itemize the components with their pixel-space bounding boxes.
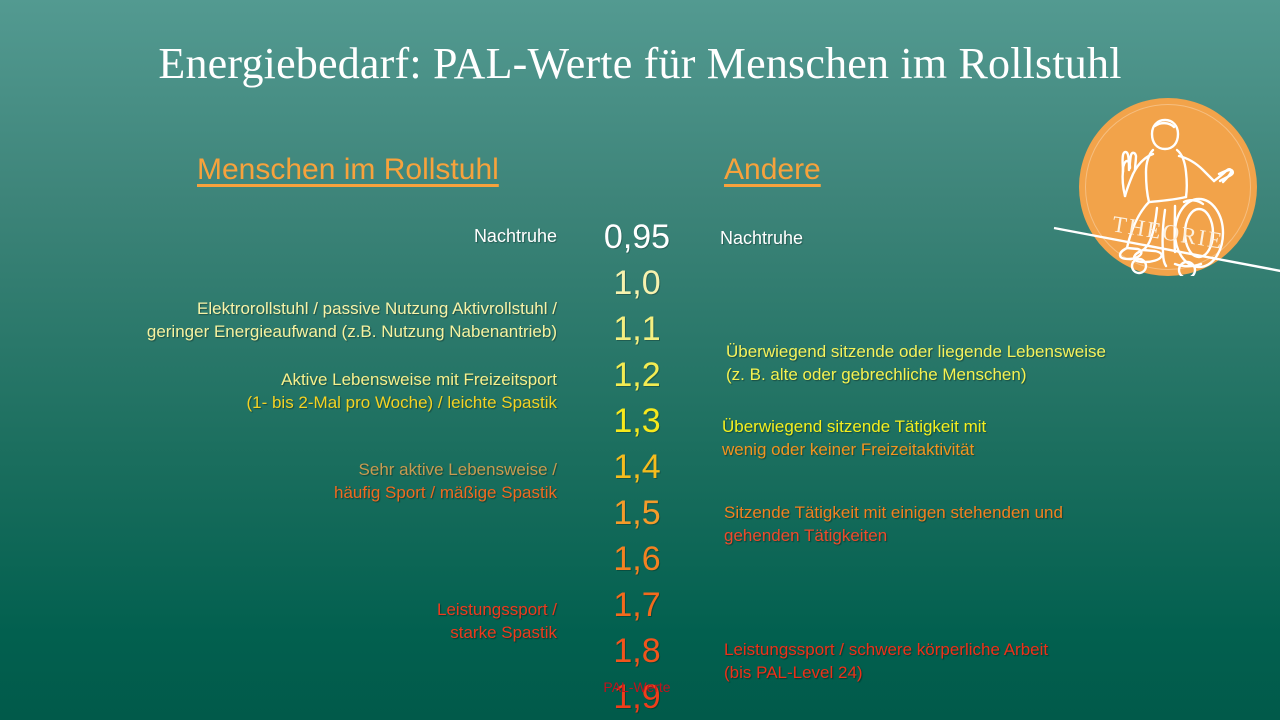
right-entry-nachtruhe: Nachtruhe: [720, 226, 803, 250]
pal-value-1-3: 1,3: [577, 398, 697, 444]
theorie-badge: THEORIE: [1079, 98, 1257, 276]
left-entry-leistungssport: Leistungssport /starke Spastik: [437, 598, 557, 644]
pal-value-1-4: 1,4: [577, 444, 697, 490]
left-entry-line: Sehr aktive Lebensweise /: [334, 458, 557, 481]
right-entry-line: Nachtruhe: [720, 226, 803, 250]
left-entry-sehr-aktive-lebensweise: Sehr aktive Lebensweise /häufig Sport / …: [334, 458, 557, 504]
left-entry-nachtruhe: Nachtruhe: [474, 224, 557, 248]
pal-value-1-1: 1,1: [577, 306, 697, 352]
left-entry-line: Aktive Lebensweise mit Freizeitsport: [246, 368, 557, 391]
right-entry-stehende-gehende: Sitzende Tätigkeit mit einigen stehenden…: [724, 501, 1063, 547]
right-entry-line: (bis PAL-Level 24): [724, 661, 1048, 684]
left-entry-elektrorollstuhl: Elektrorollstuhl / passive Nutzung Aktiv…: [147, 297, 557, 343]
left-entry-line: (1- bis 2-Mal pro Woche) / leichte Spast…: [246, 391, 557, 414]
pal-scale-caption: PAL-Werte: [577, 678, 697, 696]
page-title: Energiebedarf: PAL-Werte für Menschen im…: [0, 38, 1280, 90]
pal-value-1-0: 1,0: [577, 260, 697, 306]
left-entry-line: Leistungssport /: [437, 598, 557, 621]
left-entry-aktive-lebensweise: Aktive Lebensweise mit Freizeitsport(1- …: [246, 368, 557, 414]
pal-value-1-5: 1,5: [577, 490, 697, 536]
right-entry-leistungssport: Leistungssport / schwere körperliche Arb…: [724, 638, 1048, 684]
pal-value-1-6: 1,6: [577, 536, 697, 582]
left-entry-line: Nachtruhe: [474, 224, 557, 248]
column-header-right: Andere: [724, 152, 821, 188]
pal-value-0-95: 0,95: [577, 214, 697, 260]
right-entry-line: Sitzende Tätigkeit mit einigen stehenden…: [724, 501, 1063, 524]
right-entry-sitzende-taetigkeit: Überwiegend sitzende Tätigkeit mitwenig …: [722, 415, 986, 461]
right-entry-sitzende-liegende: Überwiegend sitzende oder liegende Leben…: [726, 340, 1106, 386]
column-header-left: Menschen im Rollstuhl: [197, 152, 499, 188]
right-entry-line: (z. B. alte oder gebrechliche Menschen): [726, 363, 1106, 386]
left-entry-line: Elektrorollstuhl / passive Nutzung Aktiv…: [147, 297, 557, 320]
right-entry-line: Überwiegend sitzende Tätigkeit mit: [722, 415, 986, 438]
pal-value-1-7: 1,7: [577, 582, 697, 628]
left-entry-line: häufig Sport / mäßige Spastik: [334, 481, 557, 504]
pal-value-1-8: 1,8: [577, 628, 697, 674]
left-entry-line: starke Spastik: [437, 621, 557, 644]
pal-value-1-2: 1,2: [577, 352, 697, 398]
right-entry-line: Überwiegend sitzende oder liegende Leben…: [726, 340, 1106, 363]
slide-canvas: Energiebedarf: PAL-Werte für Menschen im…: [0, 0, 1280, 720]
left-entry-line: geringer Energieaufwand (z.B. Nutzung Na…: [147, 320, 557, 343]
right-entry-line: wenig oder keiner Freizeitaktivität: [722, 438, 986, 461]
right-entry-line: Leistungssport / schwere körperliche Arb…: [724, 638, 1048, 661]
pal-value-ladder: 0,951,01,11,21,31,41,51,61,71,81,92,0: [577, 214, 697, 720]
right-entry-line: gehenden Tätigkeiten: [724, 524, 1063, 547]
